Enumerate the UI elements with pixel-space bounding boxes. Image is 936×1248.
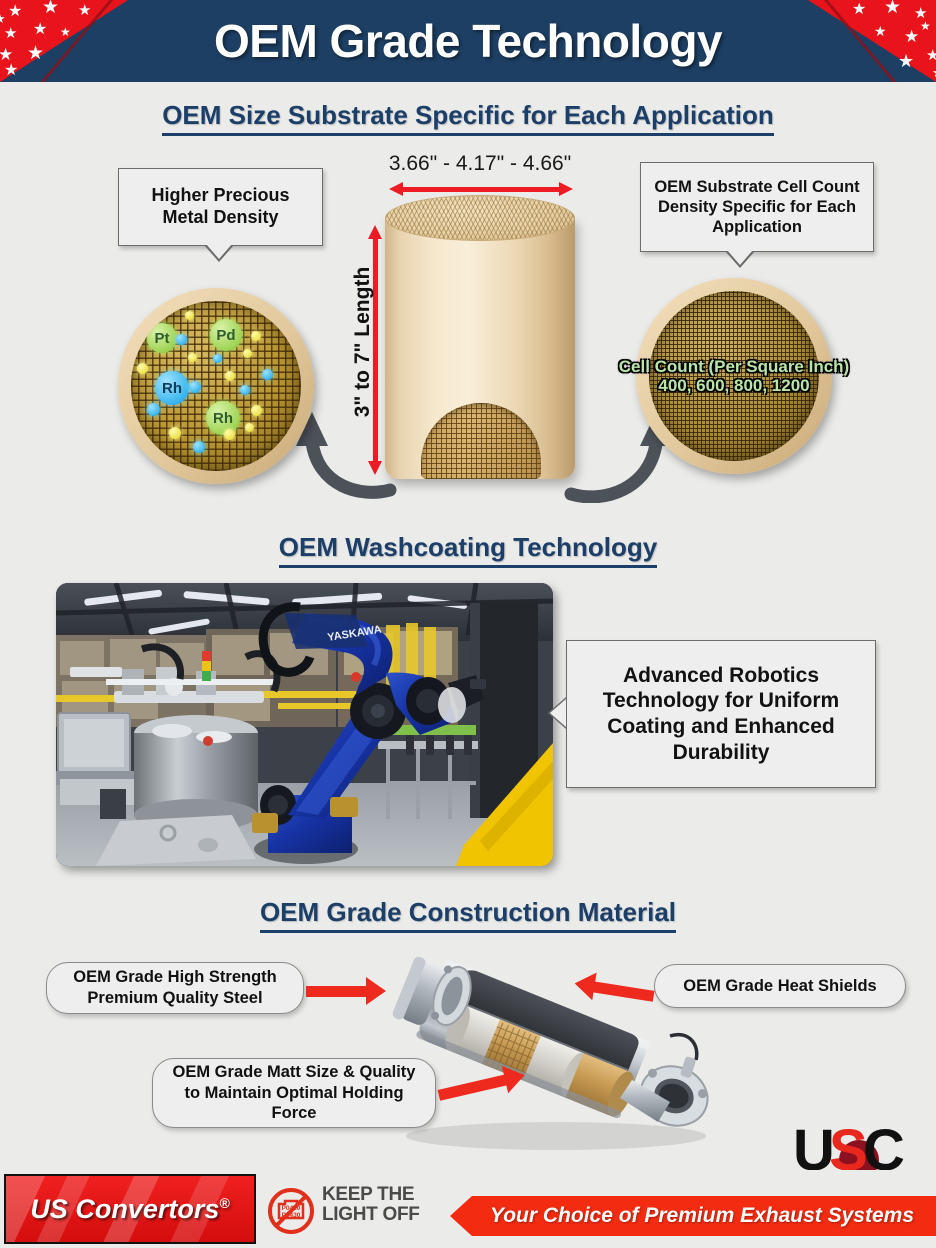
- metal-particle-rh-green: Rh: [206, 401, 240, 435]
- keep-light-off-text: KEEP THE LIGHT OFF: [322, 1185, 420, 1225]
- keep-light-line-2: LIGHT OFF: [322, 1205, 420, 1225]
- cylinder-body: [385, 217, 575, 479]
- keep-light-line-1: KEEP THE: [322, 1185, 420, 1205]
- metal-particle-pt: Pt: [147, 323, 177, 353]
- metal-particle-rh-blue: Rh: [155, 371, 189, 405]
- callout-tail: [725, 251, 755, 268]
- cell-count-title: Cell Count (Per Square Inch): [584, 358, 884, 377]
- arrow-head: [366, 977, 386, 1005]
- callout-heat-shields: OEM Grade Heat Shields: [654, 964, 906, 1008]
- tagline-banner: Your Choice of Premium Exhaust Systems: [450, 1196, 936, 1236]
- particle-dot: [169, 427, 181, 439]
- particle-dot: [251, 331, 261, 341]
- callout-advanced-robotics: Advanced Robotics Technology for Uniform…: [566, 640, 876, 788]
- particle-dot: [262, 369, 273, 380]
- keep-the-light-off-badge: P0420 P0430 KEEP THE LIGHT OFF: [266, 1183, 436, 1239]
- callout-higher-precious-metal-density: Higher Precious Metal Density: [118, 168, 323, 246]
- callout-tail: [548, 697, 566, 729]
- particle-dot: [193, 441, 205, 453]
- callout-text: OEM Grade High Strength Premium Quality …: [59, 967, 291, 1008]
- brand-logo-us-convertors: US Convertors®: [4, 1174, 256, 1244]
- particle-dot: [251, 405, 262, 416]
- precious-metal-density-disc: Pt Pd Rh Rh: [118, 288, 314, 484]
- particle-dot: [245, 423, 254, 432]
- callout-tail: [204, 245, 234, 262]
- particle-dot: [189, 381, 201, 393]
- section-heading-construction-text: OEM Grade Construction Material: [260, 897, 676, 933]
- honeycomb-mesh: Pt Pd Rh Rh: [131, 301, 301, 471]
- particle-dot: [225, 371, 235, 381]
- callout-text: OEM Substrate Cell Count Density Specifi…: [651, 177, 863, 237]
- tagline-text: Your Choice of Premium Exhaust Systems: [472, 1204, 914, 1228]
- callout-text: Higher Precious Metal Density: [129, 185, 312, 229]
- section-heading-construction: OEM Grade Construction Material: [0, 897, 936, 928]
- callout-matt-size-quality: OEM Grade Matt Size & Quality to Maintai…: [152, 1058, 436, 1128]
- cylinder-top-honeycomb: [385, 195, 575, 241]
- particle-dot: [224, 429, 235, 440]
- section-heading-washcoating-text: OEM Washcoating Technology: [279, 532, 657, 568]
- particle-dot: [188, 353, 197, 362]
- callout-oem-substrate-cell-count: OEM Substrate Cell Count Density Specifi…: [640, 162, 874, 252]
- callout-premium-quality-steel: OEM Grade High Strength Premium Quality …: [46, 962, 304, 1014]
- infographic-page: ★ ★ ★ ★ ★ ★ ★ ★ ★ ★ OEM Grade Technology…: [0, 0, 936, 1248]
- cell-count-values: 400, 600, 800, 1200: [584, 377, 884, 396]
- no-check-engine-light-icon: P0420 P0430: [266, 1186, 316, 1236]
- page-title: OEM Grade Technology: [0, 0, 936, 82]
- arrow-bar: [401, 187, 561, 192]
- cylinder-cutaway-honeycomb: [421, 403, 541, 479]
- particle-dot: [213, 354, 222, 363]
- particle-dot: [243, 349, 252, 358]
- substrate-cylinder-image: [385, 195, 575, 495]
- callout-text: OEM Grade Heat Shields: [683, 976, 876, 997]
- callout-text: Advanced Robotics Technology for Uniform…: [577, 663, 865, 765]
- robotics-factory-photo: YASKAWA: [56, 583, 553, 866]
- arrow-head-right: [559, 182, 573, 196]
- section-heading-substrate-text: OEM Size Substrate Specific for Each App…: [162, 100, 774, 136]
- particle-dot: [185, 311, 194, 320]
- section-heading-washcoating: OEM Washcoating Technology: [0, 532, 936, 563]
- photo-content: YASKAWA: [56, 583, 553, 866]
- registered-mark: ®: [219, 1195, 229, 1211]
- metal-particle-pd: Pd: [210, 319, 242, 351]
- particle-dot: [176, 334, 187, 345]
- particle-dot: [147, 403, 160, 416]
- particle-dot: [137, 363, 148, 374]
- section-heading-substrate: OEM Size Substrate Specific for Each App…: [0, 100, 936, 131]
- page-header: ★ ★ ★ ★ ★ ★ ★ ★ ★ ★ OEM Grade Technology…: [0, 0, 936, 82]
- particle-dot: [240, 385, 250, 395]
- diameter-dimension-label: 3.66" - 4.17" - 4.66": [330, 152, 630, 176]
- red-arrow-to-steel: [306, 986, 368, 997]
- brand-logo-text: US Convertors®: [30, 1194, 229, 1225]
- cell-count-overlay: Cell Count (Per Square Inch) 400, 600, 8…: [584, 358, 884, 395]
- diameter-dimension-arrow: [389, 182, 573, 196]
- callout-text: OEM Grade Matt Size & Quality to Maintai…: [165, 1062, 423, 1124]
